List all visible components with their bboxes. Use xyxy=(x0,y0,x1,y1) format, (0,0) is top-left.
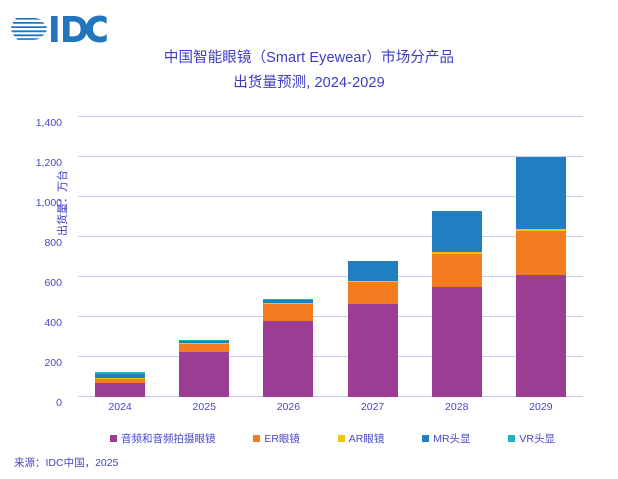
legend-item[interactable]: VR头显 xyxy=(508,431,555,446)
legend-label: 音频和音频拍摄眼镜 xyxy=(121,431,216,446)
x-axis-tick-label-2026: 2026 xyxy=(246,401,330,413)
bar-stack xyxy=(432,211,482,397)
bar-group-2026[interactable] xyxy=(263,117,313,397)
bar-segment[interactable] xyxy=(179,344,229,352)
bar-segment[interactable] xyxy=(95,383,145,397)
legend-item[interactable]: ER眼镜 xyxy=(253,431,300,446)
bar-stack xyxy=(95,372,145,397)
legend-swatch-icon xyxy=(110,435,117,442)
legend-label: ER眼镜 xyxy=(264,431,300,446)
title-line-2: 出货量预测, 2024-2029 xyxy=(0,71,618,96)
bar-segment[interactable] xyxy=(432,211,482,252)
bar-segment[interactable] xyxy=(516,157,566,229)
bar-group-2025[interactable] xyxy=(179,117,229,397)
idc-logo xyxy=(10,9,122,47)
legend-swatch-icon xyxy=(253,435,260,442)
x-axis-tick-label-2029: 2029 xyxy=(499,401,583,413)
x-axis-tick-label-2027: 2027 xyxy=(331,401,415,413)
legend-item[interactable]: 音频和音频拍摄眼镜 xyxy=(110,431,216,446)
y-axis-tick-labels: 02004006008001,0001,2001,400 xyxy=(0,117,70,397)
source-note: 来源：IDC中国，2025 xyxy=(14,455,118,470)
legend-swatch-icon xyxy=(338,435,345,442)
bar-segment[interactable] xyxy=(348,261,398,281)
bar-group-2028[interactable] xyxy=(432,117,482,397)
legend-item[interactable]: MR头显 xyxy=(422,431,470,446)
bar-series-container xyxy=(78,117,583,397)
title-line-1: 中国智能眼镜（Smart Eyewear）市场分产品 xyxy=(164,50,454,66)
bar-segment[interactable] xyxy=(348,282,398,304)
chart-legend: 音频和音频拍摄眼镜ER眼镜AR眼镜MR头显VR头显 xyxy=(78,429,583,447)
bar-segment[interactable] xyxy=(432,287,482,397)
page-title: 中国智能眼镜（Smart Eyewear）市场分产品 出货量预测, 2024-2… xyxy=(0,46,618,96)
legend-label: AR眼镜 xyxy=(349,431,385,446)
bar-segment[interactable] xyxy=(348,304,398,397)
bar-segment[interactable] xyxy=(516,231,566,275)
legend-item[interactable]: AR眼镜 xyxy=(338,431,385,446)
x-axis-tick-labels: 202420252026202720282029 xyxy=(78,401,583,419)
bar-segment[interactable] xyxy=(179,352,229,397)
bar-segment[interactable] xyxy=(263,321,313,397)
bar-segment[interactable] xyxy=(432,254,482,287)
bar-segment[interactable] xyxy=(516,275,566,397)
x-axis-tick-label-2028: 2028 xyxy=(415,401,499,413)
legend-swatch-icon xyxy=(422,435,429,442)
x-axis-tick-label-2024: 2024 xyxy=(78,401,162,413)
x-axis-tick-label-2025: 2025 xyxy=(162,401,246,413)
legend-label: MR头显 xyxy=(433,431,470,446)
bar-stack xyxy=(516,157,566,397)
bar-stack xyxy=(348,261,398,397)
legend-label: VR头显 xyxy=(519,431,555,446)
legend-swatch-icon xyxy=(508,435,515,442)
bar-group-2024[interactable] xyxy=(95,117,145,397)
bar-group-2027[interactable] xyxy=(348,117,398,397)
bar-stack xyxy=(263,299,313,397)
bar-group-2029[interactable] xyxy=(516,117,566,397)
bar-stack xyxy=(179,340,229,397)
bar-segment[interactable] xyxy=(263,304,313,321)
